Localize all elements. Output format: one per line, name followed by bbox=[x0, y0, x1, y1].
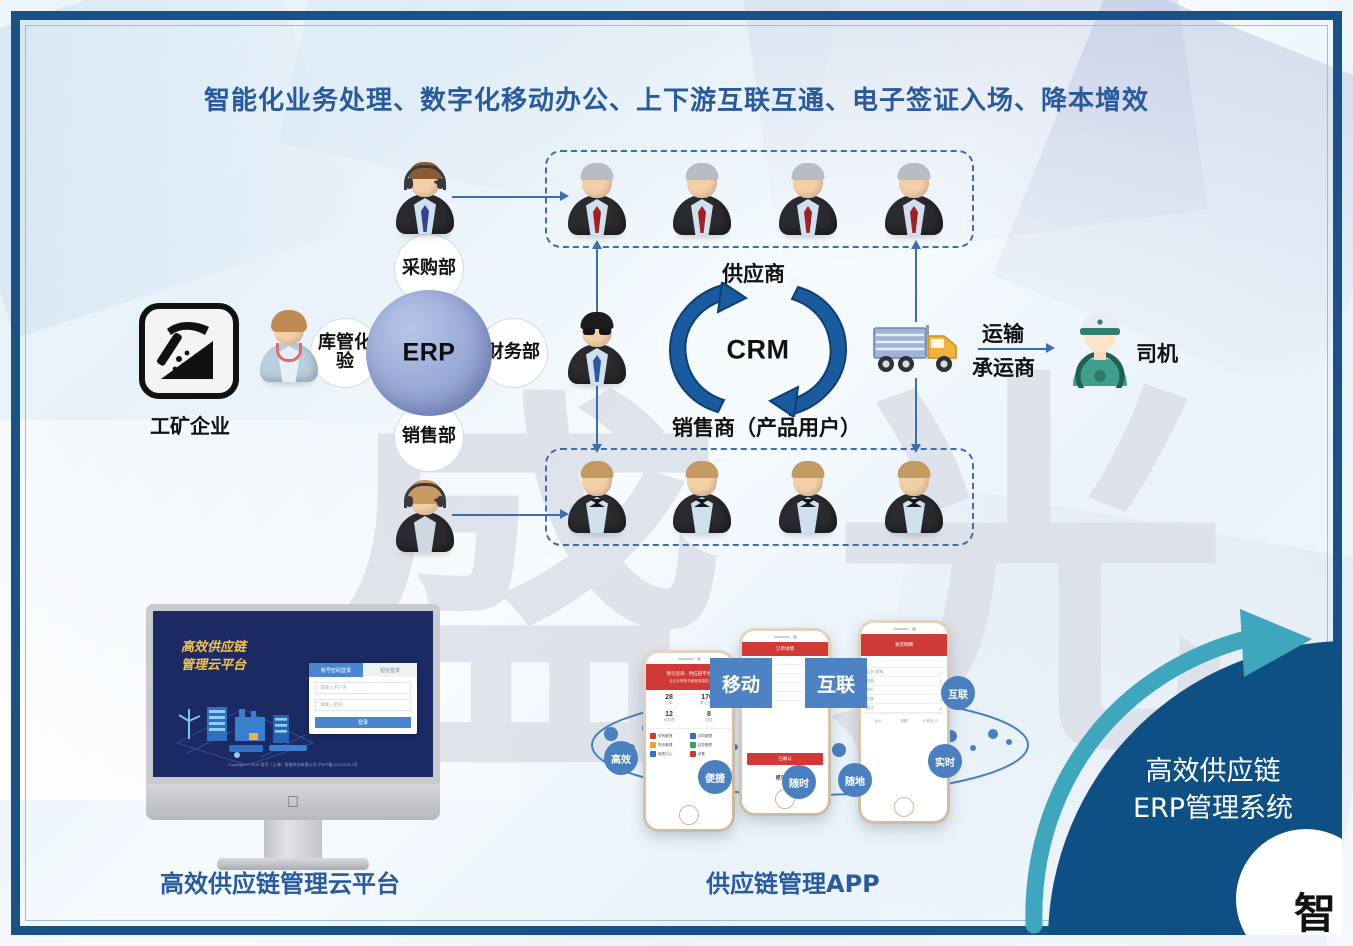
phone1-stat-value: 28 bbox=[651, 694, 687, 701]
dealer-avatar bbox=[671, 461, 733, 533]
manager-avatar bbox=[566, 312, 628, 384]
phone1-grid-item[interactable]: 结算管理 bbox=[698, 743, 712, 748]
apple-logo-icon:  bbox=[286, 794, 300, 811]
screen-title-line1: 高效供应链 bbox=[181, 639, 246, 657]
supplier-avatar bbox=[883, 163, 945, 235]
login-tabs: 账号密码登录 短信登录 bbox=[309, 663, 417, 677]
phone3-total: 合计 bbox=[866, 719, 889, 724]
driver-avatar bbox=[1063, 308, 1137, 388]
app-tile-icon bbox=[690, 733, 696, 739]
imac-stand-neck bbox=[264, 820, 322, 862]
corner-badge-text: 高效供应链 ERP管理系统 bbox=[1108, 754, 1318, 827]
phone1-grid-item[interactable]: 设置 bbox=[698, 752, 705, 757]
app-tile-icon bbox=[650, 751, 656, 757]
mining-enterprise-icon bbox=[139, 303, 239, 399]
phone3-total: 价税合计 bbox=[919, 719, 942, 724]
orbit-tag-convenient: 便捷 bbox=[698, 760, 732, 794]
tag-mobile: 移动 bbox=[710, 658, 772, 708]
page-title: 智能化业务处理、数字化移动办公、上下游互联互通、电子签证入场、降本增效 bbox=[0, 80, 1353, 117]
connector-arrow bbox=[911, 444, 921, 453]
poster-canvas: 盛 光 智能化业务处理、数字化移动办公、上下游互联互通、电子签证入场、降本增效 … bbox=[0, 0, 1353, 946]
orbit-tag-efficient: 高效 bbox=[604, 741, 638, 775]
phone1-stat-label: 待处理 bbox=[651, 718, 687, 723]
supplier-avatar bbox=[671, 163, 733, 235]
phone1-grid-item[interactable]: 物流管理 bbox=[658, 743, 672, 748]
purchase-agent-avatar bbox=[394, 162, 456, 234]
corner-badge: 高效供应链 ERP管理系统 智 bbox=[1012, 605, 1342, 935]
login-submit-button[interactable]: 登录 bbox=[315, 717, 411, 728]
dealer-avatar bbox=[883, 461, 945, 533]
transport-label-line1: 运输 bbox=[982, 318, 1024, 348]
sales-agent-avatar bbox=[394, 480, 456, 552]
supplier-avatar bbox=[566, 163, 628, 235]
erp-petal-label: 销售部 bbox=[394, 428, 464, 447]
phone1-stat-label: 消息 bbox=[691, 718, 727, 723]
home-button[interactable] bbox=[894, 797, 914, 817]
phone3-row-label: 品名/规格 bbox=[866, 669, 883, 675]
phone3-row-label: 数量 bbox=[866, 678, 874, 684]
isometric-city-illustration bbox=[173, 687, 321, 767]
crm-cycle: CRM bbox=[668, 282, 848, 417]
tag-interconnect: 互联 bbox=[805, 658, 867, 708]
phone2-header: 订单详情 bbox=[742, 642, 828, 656]
connector-purchase-supplier bbox=[452, 196, 562, 198]
transport-arrow bbox=[1046, 343, 1055, 353]
login-page-screenshot: 高效供应链 管理云平台 bbox=[153, 611, 433, 777]
app-tile-icon bbox=[690, 751, 696, 757]
erp-petal-label: 采购部 bbox=[394, 260, 464, 279]
app-tile-icon bbox=[650, 733, 656, 739]
phone3-row: 备注5 bbox=[866, 704, 942, 713]
connector-manager-supplier bbox=[596, 246, 598, 312]
app-tile-icon bbox=[650, 742, 656, 748]
phone1-stat-value: 12 bbox=[651, 711, 687, 718]
connector-arrow bbox=[911, 240, 921, 249]
tab-password-login[interactable]: 账号密码登录 bbox=[309, 663, 363, 677]
orbit-tag-anytime: 随时 bbox=[782, 765, 816, 799]
connector-manager-dealer bbox=[596, 386, 598, 448]
mining-pickaxe-icon bbox=[153, 315, 229, 387]
mobile-caption: 供应链管理APP bbox=[706, 864, 880, 899]
phone1-grid-item[interactable]: 合同管理 bbox=[698, 734, 712, 739]
connector-arrow bbox=[560, 191, 569, 201]
connector-truck-supplier bbox=[915, 246, 917, 322]
connector-arrow bbox=[592, 444, 602, 453]
phone1-stat-value: 8 bbox=[691, 711, 727, 718]
erp-hub: 采购部 财务部 销售部 库管化验 ERP bbox=[366, 290, 492, 416]
connector-arrow bbox=[592, 240, 602, 249]
corner-glyph: 智 bbox=[1294, 880, 1336, 935]
app-tile-icon bbox=[690, 742, 696, 748]
desktop-mockup: 高效供应链 管理云平台 bbox=[146, 604, 440, 844]
phone3-row: 单价3 bbox=[866, 686, 942, 695]
phone3-row-label: 备注 bbox=[866, 705, 874, 711]
dealer-avatar bbox=[777, 461, 839, 533]
phone3-row: 数量2 bbox=[866, 677, 942, 686]
enterprise-label: 工矿企业 bbox=[120, 410, 260, 439]
driver-label: 司机 bbox=[1136, 338, 1178, 368]
corner-badge-line2: ERP管理系统 bbox=[1108, 791, 1318, 827]
orbit-tag-interconnect: 互联 bbox=[941, 676, 975, 710]
phone3-subtitle bbox=[867, 660, 868, 665]
connector-truck-dealer bbox=[915, 378, 917, 450]
imac-screen: 高效供应链 管理云平台 bbox=[146, 604, 440, 784]
phone3-row: 金额4 bbox=[866, 695, 942, 704]
transport-arrow-line bbox=[978, 348, 1050, 350]
phone-mockup-3: 发货明细 品名/规格1 数量2 单价3 金额4 备注5 合计 税额 价税合计 bbox=[858, 620, 950, 824]
home-button[interactable] bbox=[679, 805, 699, 825]
phone3-row: 品名/规格1 bbox=[866, 668, 942, 677]
phone3-row-label: 金额 bbox=[866, 696, 874, 702]
screen-copyright: Copyright © 2019 智引（上海）智能科技有限公司 沪ICP备170… bbox=[153, 762, 433, 768]
phone2-footer-bar: 已确认 bbox=[747, 753, 823, 765]
delivery-truck-icon bbox=[872, 322, 964, 377]
username-field[interactable]: 请输入用户名 bbox=[315, 682, 411, 694]
tab-sms-login[interactable]: 短信登录 bbox=[363, 663, 417, 677]
phone1-sub: 让企业采购与销售更高效 bbox=[669, 679, 709, 684]
phone3-header: 发货明细 bbox=[861, 634, 947, 656]
orbit-tag-anywhere: 随地 bbox=[838, 763, 872, 797]
erp-core-circle: ERP bbox=[366, 290, 492, 416]
phone3-row-label: 单价 bbox=[866, 687, 874, 693]
screen-title: 高效供应链 管理云平台 bbox=[181, 639, 246, 674]
orbit-tag-realtime: 实时 bbox=[928, 744, 962, 778]
phone1-header: 智引云商 · 供应链平台 bbox=[667, 671, 712, 677]
erp-core-label: ERP bbox=[366, 339, 492, 368]
corner-badge-line1: 高效供应链 bbox=[1108, 754, 1318, 790]
phone1-stat-label: 订单 bbox=[651, 701, 687, 706]
phone1-grid-item[interactable]: 采购管理 bbox=[658, 734, 672, 739]
transport-label-line2: 承运商 bbox=[972, 352, 1035, 382]
crm-label: CRM bbox=[668, 334, 848, 365]
phone3-action[interactable] bbox=[940, 660, 941, 665]
desktop-caption: 高效供应链管理云平台 bbox=[160, 864, 400, 899]
dealer-avatar bbox=[566, 461, 628, 533]
sunglasses-icon bbox=[583, 327, 611, 335]
login-card: 账号密码登录 短信登录 请输入用户名 请输入密码 登录 bbox=[309, 663, 417, 734]
phone3-total: 税额 bbox=[892, 719, 915, 724]
supplier-avatar bbox=[777, 163, 839, 235]
connector-sales-dealer bbox=[452, 514, 562, 516]
phone1-grid-item[interactable]: 报表中心 bbox=[658, 752, 672, 757]
screen-title-line2: 管理云平台 bbox=[181, 657, 246, 675]
password-field[interactable]: 请输入密码 bbox=[315, 699, 411, 711]
